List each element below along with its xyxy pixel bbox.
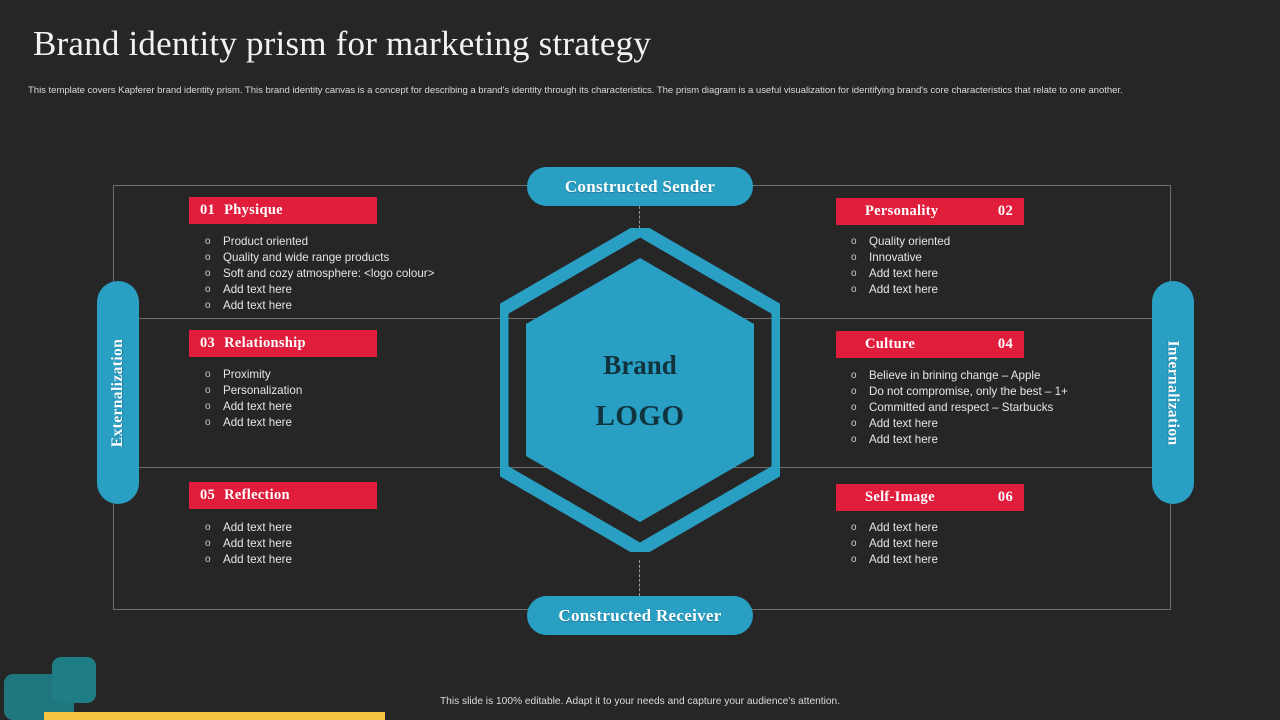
page-subtitle: This template covers Kapferer brand iden… [28, 84, 1208, 98]
list-item: Personalization [197, 383, 302, 399]
page-title: Brand identity prism for marketing strat… [33, 24, 651, 64]
section-header-personality[interactable]: Personality 02 [836, 198, 1024, 225]
list-item: Add text here [197, 399, 302, 415]
pill-label-sender: Constructed Sender [565, 177, 715, 197]
slide-canvas: Brand identity prism for marketing strat… [0, 0, 1280, 720]
list-item: Product oriented [197, 234, 434, 250]
bullet-list-reflection: Add text here Add text here Add text her… [197, 520, 292, 568]
decorative-yellow-bar [44, 712, 385, 720]
section-number-relationship: 03 [200, 335, 215, 352]
list-item: Add text here [843, 416, 1068, 432]
bullet-list-physique: Product oriented Quality and wide range … [197, 234, 434, 314]
footer-note: This slide is 100% editable. Adapt it to… [0, 696, 1280, 707]
bullet-list-personality: Quality oriented Innovative Add text her… [843, 234, 950, 298]
pill-constructed-receiver[interactable]: Constructed Receiver [527, 596, 753, 635]
list-item: Add text here [197, 282, 434, 298]
list-item: Quality and wide range products [197, 250, 434, 266]
hexagon-line-1: Brand [500, 350, 780, 381]
connector-bottom-dashed [639, 560, 640, 596]
pill-label-receiver: Constructed Receiver [558, 606, 721, 626]
list-item: Soft and cozy atmosphere: <logo colour> [197, 266, 434, 282]
bullet-list-relationship: Proximity Personalization Add text here … [197, 367, 302, 431]
section-number-self-image: 06 [998, 489, 1013, 506]
list-item: Add text here [197, 536, 292, 552]
list-item: Add text here [843, 282, 950, 298]
section-number-physique: 01 [200, 202, 215, 219]
section-title-personality: Personality [865, 203, 938, 220]
list-item: Add text here [843, 552, 938, 568]
list-item: Committed and respect – Starbucks [843, 400, 1068, 416]
list-item: Add text here [197, 415, 302, 431]
section-header-relationship[interactable]: 03 Relationship [189, 330, 377, 357]
brand-logo-hexagon[interactable]: Brand LOGO [500, 228, 780, 552]
list-item: Add text here [843, 432, 1068, 448]
bullet-list-culture: Believe in brining change – Apple Do not… [843, 368, 1068, 448]
list-item: Proximity [197, 367, 302, 383]
pill-label-internalization: Internalization [1164, 340, 1182, 445]
section-header-culture[interactable]: Culture 04 [836, 331, 1024, 358]
hexagon-line-2: LOGO [500, 400, 780, 433]
section-header-physique[interactable]: 01 Physique [189, 197, 377, 224]
pill-externalization[interactable]: Externalization [97, 281, 139, 504]
section-title-culture: Culture [865, 336, 915, 353]
section-title-physique: Physique [224, 202, 283, 219]
list-item: Innovative [843, 250, 950, 266]
list-item: Quality oriented [843, 234, 950, 250]
hexagon-shape [500, 228, 780, 552]
pill-internalization[interactable]: Internalization [1152, 281, 1194, 504]
section-header-self-image[interactable]: Self-Image 06 [836, 484, 1024, 511]
list-item: Add text here [843, 520, 938, 536]
section-title-self-image: Self-Image [865, 489, 935, 506]
list-item: Add text here [197, 298, 434, 314]
list-item: Add text here [197, 520, 292, 536]
section-title-relationship: Relationship [224, 335, 306, 352]
section-number-reflection: 05 [200, 487, 215, 504]
list-item: Add text here [843, 536, 938, 552]
section-title-reflection: Reflection [224, 487, 290, 504]
section-number-personality: 02 [998, 203, 1013, 220]
section-header-reflection[interactable]: 05 Reflection [189, 482, 377, 509]
bullet-list-self-image: Add text here Add text here Add text her… [843, 520, 938, 568]
list-item: Add text here [197, 552, 292, 568]
pill-label-externalization: Externalization [109, 338, 127, 446]
list-item: Do not compromise, only the best – 1+ [843, 384, 1068, 400]
list-item: Believe in brining change – Apple [843, 368, 1068, 384]
list-item: Add text here [843, 266, 950, 282]
section-number-culture: 04 [998, 336, 1013, 353]
pill-constructed-sender[interactable]: Constructed Sender [527, 167, 753, 206]
